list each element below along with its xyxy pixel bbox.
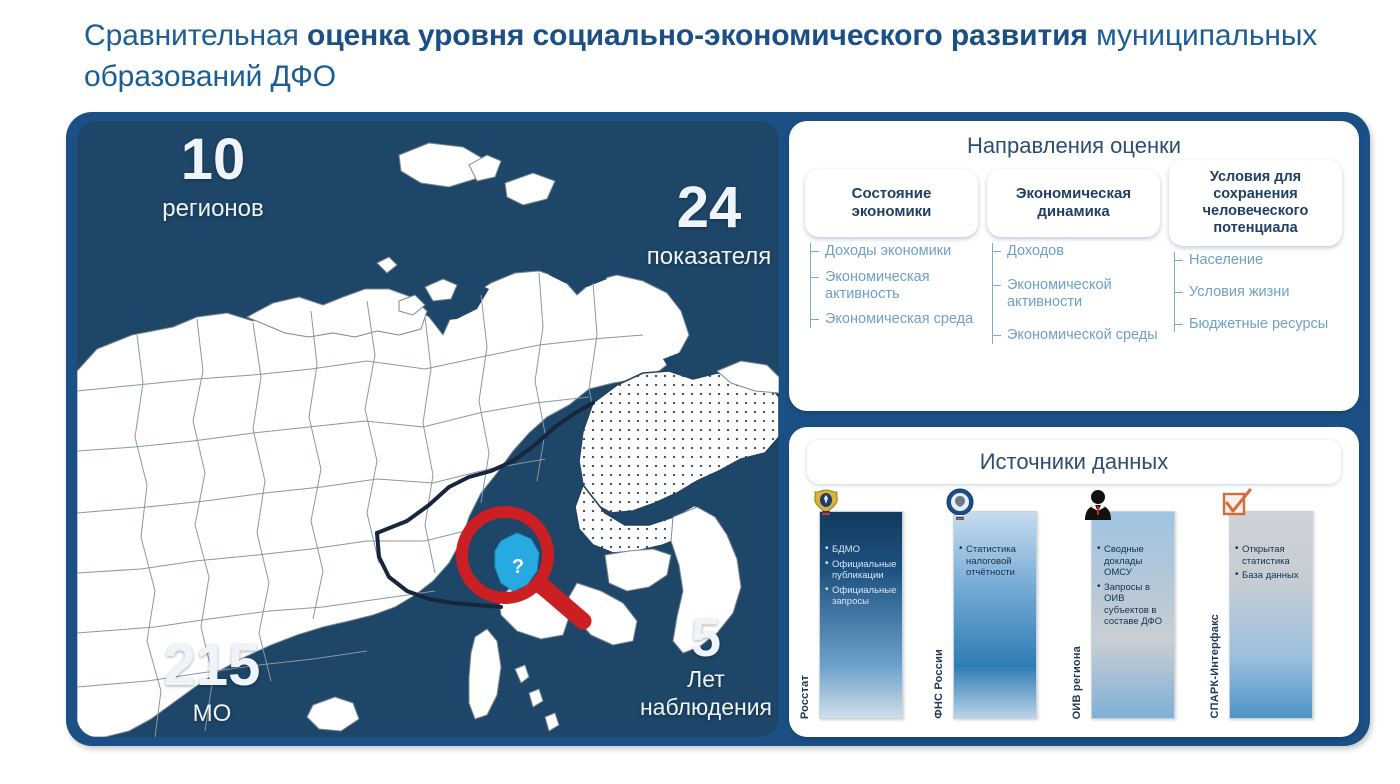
official-person-icon: [1081, 487, 1115, 521]
direction-item: Экономической среды: [1007, 327, 1160, 344]
stat-mo-number: 215: [107, 637, 317, 695]
sources-title: Источники данных: [807, 440, 1341, 484]
source-bullet: Официальные запросы: [825, 585, 897, 608]
source-fns-bar: Статистика налоговой отчётности: [953, 511, 1037, 719]
directions-card: Направления оценки Состояние экономики Д…: [789, 121, 1359, 411]
stat-years-caption-line1: Лет: [591, 667, 779, 693]
source-bullet: Запросы в ОИВ субъектов в составе ДФО: [1097, 582, 1169, 628]
direction-item: Доходов: [1007, 243, 1160, 260]
fns-emblem-icon: [943, 487, 977, 521]
stat-regions-number: 10: [113, 131, 313, 189]
direction-item: Условия жизни: [1189, 284, 1342, 301]
direction-item: Бюджетные ресурсы: [1189, 316, 1342, 333]
direction-head-3: Условия для сохранения человеческого пот…: [1169, 160, 1342, 246]
source-spark-bar: Открытая статистика База данных: [1229, 511, 1313, 719]
coat-of-arms-icon: [809, 487, 843, 521]
source-bullet: БДМО: [825, 544, 897, 556]
stat-regions: 10 регионов: [113, 131, 313, 223]
stat-regions-caption: регионов: [113, 196, 313, 223]
source-fns-label: ФНС России: [933, 649, 945, 719]
direction-items-2: Доходов Экономической активности Экономи…: [992, 243, 1160, 344]
source-fns[interactable]: ФНС России Статистика налоговой отчётнос…: [933, 489, 1065, 727]
source-bullet: База данных: [1235, 570, 1307, 582]
checkbox-checked-icon: [1219, 487, 1253, 521]
source-rosstat-bar: БДМО Официальные публикации Официальные …: [819, 511, 903, 719]
direction-items-1: Доходы экономики Экономическая активност…: [810, 243, 978, 328]
source-oiv[interactable]: ОИВ региона Сводные доклады ОМСУ Запросы…: [1071, 489, 1203, 727]
infographic-frame: ? 10 регионов 24 показателя 215 МО 5 Лет…: [66, 112, 1370, 746]
svg-text:?: ?: [512, 556, 524, 578]
direction-column-economy-state[interactable]: Состояние экономики Доходы экономики Эко…: [805, 169, 978, 401]
source-oiv-label: ОИВ региона: [1071, 646, 1083, 719]
direction-item: Население: [1189, 252, 1342, 269]
source-rosstat-label: Росстат: [799, 675, 811, 719]
directions-title: Направления оценки: [807, 129, 1341, 163]
stat-mo: 215 МО: [107, 637, 317, 728]
stat-years: 5 Лет наблюдения: [591, 611, 779, 721]
source-spark-label: СПАРК-Интерфакс: [1209, 614, 1221, 719]
direction-item: Экономическая среда: [825, 311, 978, 328]
stat-years-caption-line2: наблюдения: [591, 695, 779, 721]
direction-item: Доходы экономики: [825, 243, 978, 260]
directions-columns: Состояние экономики Доходы экономики Эко…: [805, 169, 1343, 401]
source-bullet: Официальные публикации: [825, 559, 897, 582]
direction-head-2: Экономическая динамика: [987, 169, 1160, 237]
source-rosstat[interactable]: Росстат БДМО Официальные публикации Офиц…: [799, 489, 931, 727]
stat-mo-caption: МО: [107, 701, 317, 728]
sources-row: Росстат БДМО Официальные публикации Офиц…: [799, 489, 1349, 727]
direction-item: Экономическая активность: [825, 269, 978, 303]
map-panel: ? 10 регионов 24 показателя 215 МО 5 Лет…: [77, 121, 779, 737]
direction-column-human-potential[interactable]: Условия для сохранения человеческого пот…: [1169, 169, 1342, 401]
title-bold: оценка уровня социально-экономического р…: [307, 19, 1088, 52]
stat-indicators: 24 показателя: [599, 179, 779, 271]
direction-items-3: Население Условия жизни Бюджетные ресурс…: [1174, 252, 1342, 332]
sources-card: Источники данных Росстат БДМО: [789, 427, 1359, 737]
source-bullet: Сводные доклады ОМСУ: [1097, 544, 1169, 579]
direction-item: Экономической активности: [1007, 277, 1160, 311]
stat-indicators-caption: показателя: [599, 244, 779, 271]
direction-head-1: Состояние экономики: [805, 169, 978, 237]
page-title: Сравнительная оценка уровня социально-эк…: [84, 16, 1334, 97]
stat-years-number: 5: [591, 611, 779, 665]
source-bullet: Открытая статистика: [1235, 544, 1307, 567]
title-part-1: Сравнительная: [84, 19, 307, 52]
stat-indicators-number: 24: [599, 179, 779, 237]
direction-column-economic-dynamics[interactable]: Экономическая динамика Доходов Экономиче…: [987, 169, 1160, 401]
source-spark[interactable]: СПАРК-Интерфакс Открытая статистика База…: [1209, 489, 1349, 727]
source-bullet: Статистика налоговой отчётности: [959, 544, 1031, 579]
source-oiv-bar: Сводные доклады ОМСУ Запросы в ОИВ субъе…: [1091, 511, 1175, 719]
